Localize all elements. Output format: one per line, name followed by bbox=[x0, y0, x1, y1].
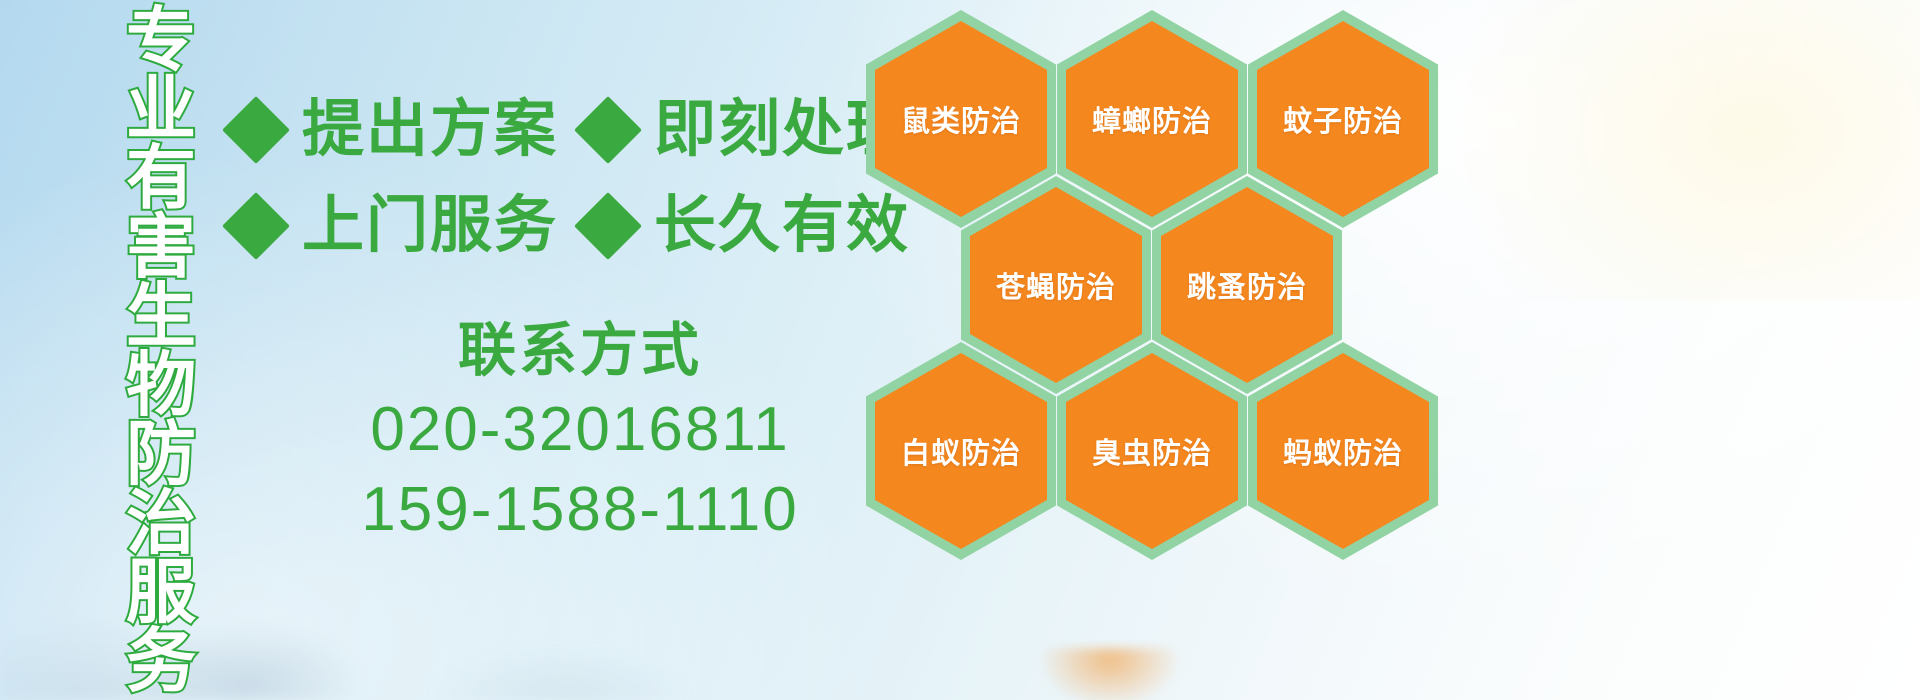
top-right-glow bbox=[1440, 0, 1920, 300]
service-label: 蟑螂防治 bbox=[1092, 98, 1212, 140]
contact-phone-mobile[interactable]: 159-1588-1110 bbox=[300, 470, 860, 550]
service-label: 鼠类防治 bbox=[901, 98, 1021, 140]
headline-char-8: 治 bbox=[126, 489, 196, 558]
diamond-bullet-icon bbox=[574, 192, 642, 260]
service-label: 蚊子防治 bbox=[1283, 98, 1403, 140]
headline-char-10: 务 bbox=[126, 627, 196, 696]
service-hex-bedbug[interactable]: 臭虫防治 bbox=[1057, 342, 1247, 560]
feature-item-onsite-service: 上门服务 bbox=[302, 195, 558, 257]
service-label: 蚂蚁防治 bbox=[1283, 430, 1403, 472]
headline-char-7: 防 bbox=[126, 420, 196, 489]
service-label: 臭虫防治 bbox=[1092, 430, 1212, 472]
contact-title: 联系方式 bbox=[300, 312, 860, 390]
contact-phone-landline[interactable]: 020-32016811 bbox=[300, 390, 860, 470]
diamond-bullet-icon bbox=[574, 96, 642, 164]
bottom-hexagon-glow-decor bbox=[1040, 648, 1180, 700]
headline-char-6: 物 bbox=[126, 351, 196, 420]
service-label: 白蚁防治 bbox=[901, 430, 1021, 472]
promo-banner: 专 业 有 害 生 物 防 治 服 务 提出方案 即刻处理 上门服务 长久有效 … bbox=[0, 0, 1920, 700]
service-hex-termite[interactable]: 白蚁防治 bbox=[866, 342, 1056, 560]
headline-char-3: 有 bbox=[126, 144, 196, 213]
feature-row-2: 上门服务 长久有效 bbox=[232, 178, 872, 274]
service-hex-ant[interactable]: 蚂蚁防治 bbox=[1248, 342, 1438, 560]
feature-list: 提出方案 即刻处理 上门服务 长久有效 bbox=[232, 82, 872, 274]
headline-char-1: 专 bbox=[126, 6, 196, 75]
vertical-headline: 专 业 有 害 生 物 防 治 服 务 bbox=[105, 6, 217, 566]
service-hexagon-grid: 鼠类防治 蟑螂防治 蚊子防治 苍蝇防治 跳蚤防治 白蚁防治 bbox=[860, 0, 1480, 580]
service-label: 苍蝇防治 bbox=[996, 264, 1116, 306]
headline-char-9: 服 bbox=[126, 558, 196, 627]
headline-char-5: 生 bbox=[126, 282, 196, 351]
feature-item-propose-plan: 提出方案 bbox=[302, 99, 558, 161]
diamond-bullet-icon bbox=[222, 96, 290, 164]
feature-row-1: 提出方案 即刻处理 bbox=[232, 82, 872, 178]
headline-char-2: 业 bbox=[126, 75, 196, 144]
headline-char-4: 害 bbox=[126, 213, 196, 282]
contact-block: 联系方式 020-32016811 159-1588-1110 bbox=[300, 312, 860, 550]
diamond-bullet-icon bbox=[222, 192, 290, 260]
service-label: 跳蚤防治 bbox=[1187, 264, 1307, 306]
